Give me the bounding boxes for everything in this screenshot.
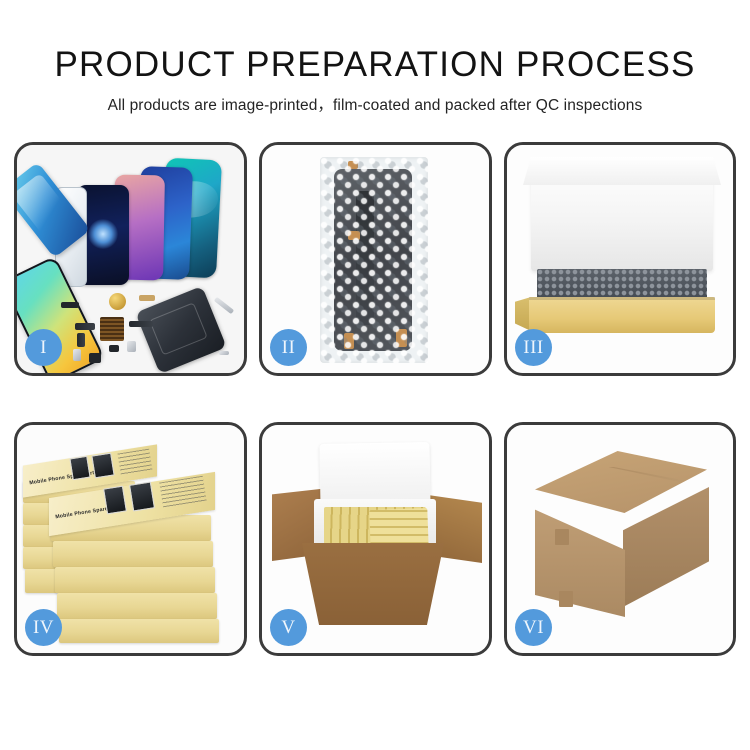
grey-foam-padding xyxy=(537,269,707,301)
tape-tab-bottom-right xyxy=(396,329,407,347)
phone-dark-front xyxy=(77,185,129,285)
carton-tape-lower xyxy=(559,591,573,607)
stacked-box-front-4 xyxy=(57,593,217,619)
foam-cooler-body xyxy=(314,499,436,561)
carton-top-seam xyxy=(553,467,685,501)
yellow-box-tray xyxy=(529,297,715,333)
box-label-thumbnail-rear-1 xyxy=(69,456,90,481)
part-bga-chip xyxy=(100,317,124,341)
process-step-panel-5[interactable]: V xyxy=(259,422,492,656)
process-step-panel-2[interactable]: II xyxy=(259,142,492,376)
box-label-thumbnail-front-1 xyxy=(103,486,127,515)
outer-carton-body xyxy=(302,543,444,625)
box-lid-rear xyxy=(23,444,157,497)
part-screwdriver-tool xyxy=(214,297,234,314)
part-camera-module xyxy=(89,353,101,363)
step-badge-3: III xyxy=(515,329,552,366)
phone-back-housing xyxy=(135,286,226,373)
step-badge-6: VI xyxy=(515,609,552,646)
tape-tab-top xyxy=(348,161,358,169)
product-preparation-infographic: PRODUCT PREPARATION PROCESS All products… xyxy=(0,0,750,750)
header: PRODUCT PREPARATION PROCESS All products… xyxy=(0,0,750,115)
box-label-front: Mobile Phone Spare Parts xyxy=(55,504,124,521)
stacked-box-rear-4 xyxy=(23,547,135,569)
wrapped-product xyxy=(334,169,412,351)
product-flex-strip xyxy=(356,191,374,325)
part-flex-cable-right xyxy=(129,321,153,327)
part-vibration-motor xyxy=(109,345,119,352)
step-badge-2: II xyxy=(270,329,307,366)
screen-protector-glass xyxy=(55,187,87,287)
yellow-boxes-row-2 xyxy=(369,508,428,550)
part-connector-gold xyxy=(139,295,155,301)
part-metal-bracket xyxy=(127,341,136,352)
part-sim-tray xyxy=(73,349,81,361)
stacked-box-front-5 xyxy=(59,619,219,643)
part-gold-coil xyxy=(109,293,126,310)
box-lid-front xyxy=(49,472,215,536)
part-flex-cable-vertical xyxy=(77,333,85,347)
box-lid-white xyxy=(531,159,713,271)
page-title: PRODUCT PREPARATION PROCESS xyxy=(0,44,750,86)
carton-flap-right xyxy=(414,493,482,563)
box-stack: Mobile Phone Spare Parts Mobile Phone Sp… xyxy=(23,443,239,639)
foam-cooler-lid xyxy=(319,442,430,510)
yellow-boxes-row-1 xyxy=(324,507,426,549)
carton-right-face xyxy=(623,487,709,607)
step-badge-5: V xyxy=(270,609,307,646)
process-step-panel-3[interactable]: III xyxy=(504,142,736,376)
carton-top-face xyxy=(535,451,707,513)
stacked-box-front-1 xyxy=(51,515,211,541)
box-label-text-lines-rear xyxy=(117,449,152,476)
carton-tape-upper xyxy=(555,529,569,545)
phone-teal-gradient xyxy=(160,158,222,279)
box-label-thumbnail-rear-2 xyxy=(91,453,114,479)
bubble-wrap-bag xyxy=(320,157,428,363)
part-flex-cable-left xyxy=(75,323,95,330)
part-screws xyxy=(219,351,229,355)
phone-blue-screen xyxy=(137,166,193,280)
bubble-highlight-layer xyxy=(320,157,428,363)
process-step-panel-1[interactable]: I xyxy=(14,142,247,376)
process-step-panel-4[interactable]: Mobile Phone Spare Parts Mobile Phone Sp… xyxy=(14,422,247,656)
bubble-shadow-layer xyxy=(320,157,428,363)
stacked-box-rear-5 xyxy=(25,569,137,593)
stacked-box-front-3 xyxy=(55,567,215,593)
box-label-thumbnail-front-2 xyxy=(129,481,155,511)
stacked-box-rear-1 xyxy=(23,481,135,503)
tape-tab-bottom-left xyxy=(344,333,354,349)
process-step-panel-6[interactable]: VI xyxy=(504,422,736,656)
tape-tab-middle xyxy=(348,231,360,240)
page-subtitle: All products are image-printed，film-coat… xyxy=(0,93,750,115)
box-tray-side xyxy=(515,297,531,331)
process-steps-grid: I II xyxy=(14,142,736,678)
part-speaker-module xyxy=(61,302,79,308)
phone-blue-tilted xyxy=(17,162,91,258)
phone-purple-gradient xyxy=(113,175,165,281)
step-badge-1: I xyxy=(25,329,62,366)
box-label-rear: Mobile Phone Spare Parts xyxy=(29,470,98,487)
step-badge-4: IV xyxy=(25,609,62,646)
carton-flap-left xyxy=(272,487,338,561)
carton-front-face xyxy=(535,495,625,617)
box-label-text-lines-front xyxy=(159,476,207,509)
stacked-box-front-2 xyxy=(53,541,213,567)
stacked-box-rear-2 xyxy=(23,503,135,525)
stacked-box-rear-3 xyxy=(23,525,135,547)
